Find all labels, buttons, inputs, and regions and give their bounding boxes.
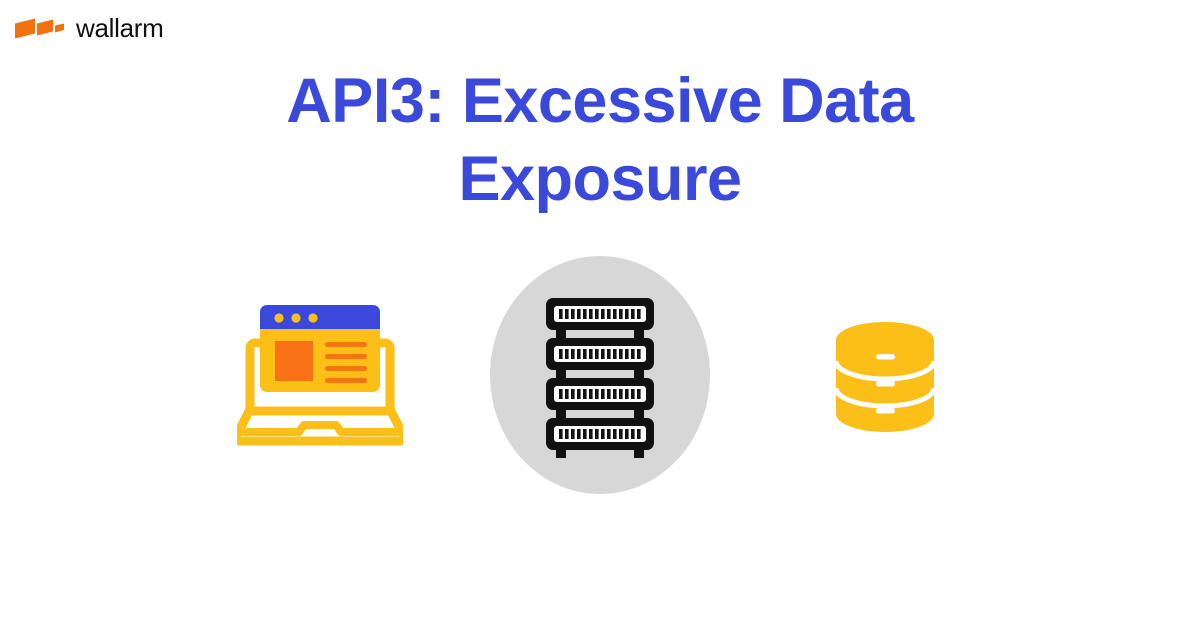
database-dash-1 <box>876 354 895 360</box>
brand-wordmark: wallarm <box>76 15 163 41</box>
server-stack-icon <box>484 256 716 494</box>
server-units <box>546 298 654 458</box>
illustration-row <box>0 250 1200 500</box>
brand-logo[interactable]: wallarm <box>14 10 163 46</box>
server-backdrop-circle <box>490 256 710 494</box>
window-dot-1 <box>274 313 283 322</box>
window-dot-3 <box>308 313 317 322</box>
slide-canvas: wallarm API3: Excessive Data Exposure <box>0 0 1200 628</box>
illustration-item-database <box>760 250 1010 500</box>
database-dash-2 <box>876 381 895 387</box>
window-dot-2 <box>291 313 300 322</box>
page-title: API3: Excessive Data Exposure <box>0 62 1200 218</box>
database-dash-3 <box>876 408 895 414</box>
page-title-line-2: Exposure <box>0 140 1200 218</box>
page-title-line-1: API3: Excessive Data <box>0 62 1200 140</box>
illustration-item-client <box>180 250 460 500</box>
laptop-browser-window-icon <box>237 299 403 451</box>
wallarm-lightning-mark-icon <box>14 14 66 42</box>
illustration-item-server <box>460 250 740 500</box>
database-cylinder-icon <box>832 312 938 438</box>
